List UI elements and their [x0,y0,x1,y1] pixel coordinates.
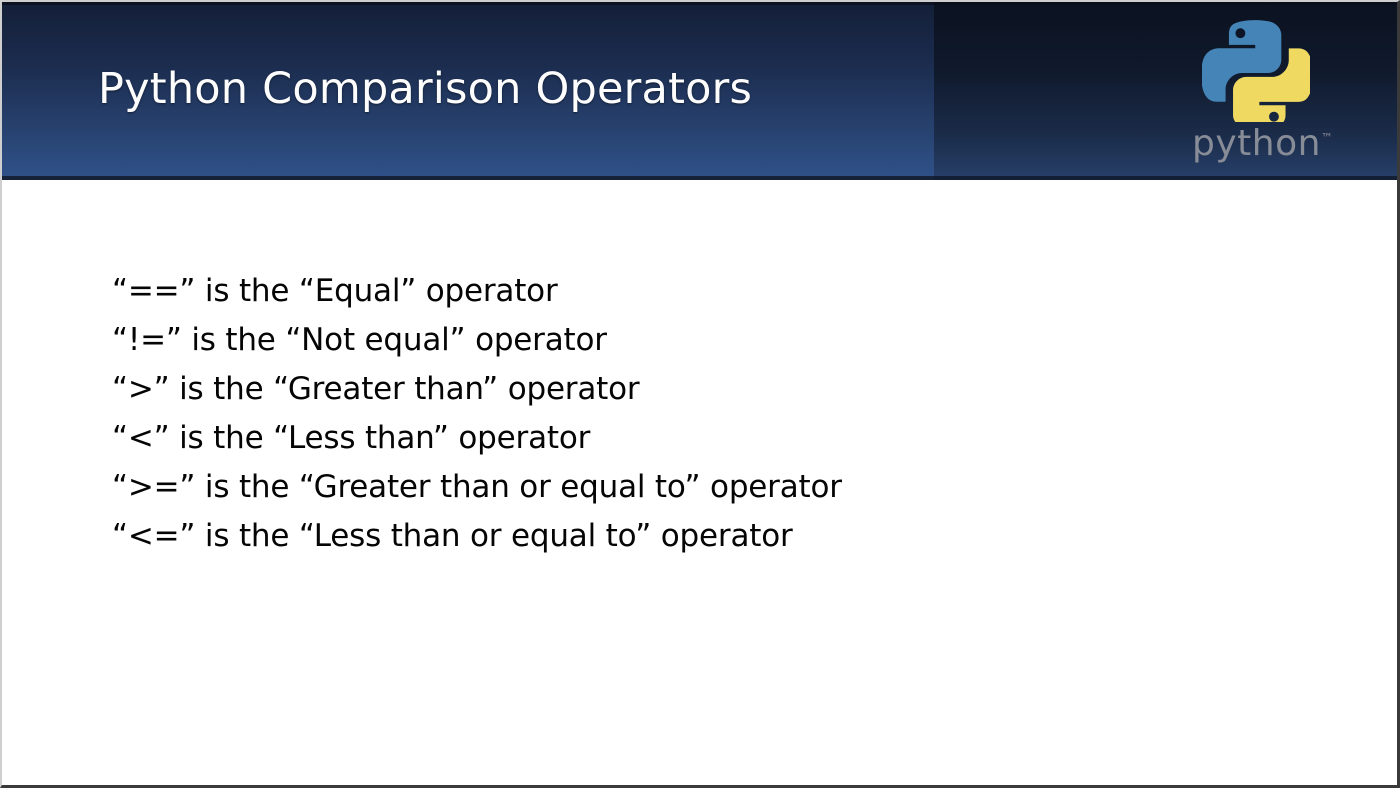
python-wordmark-text: python [1192,123,1321,164]
list-item-equal: “==” is the “Equal” operator [112,267,842,316]
python-logo: python™ [1187,18,1337,166]
list-item-less-than: “<” is the “Less than” operator [112,414,842,463]
list-item-greater-than: “>” is the “Greater than” operator [112,365,842,414]
python-snake-icon [1202,18,1310,122]
list-item-not-equal: “!=” is the “Not equal” operator [112,316,842,365]
slide-header: Python Comparison Operators python™ [2,2,1397,180]
python-wordmark: python™ [1192,118,1337,162]
page-title: Python Comparison Operators [98,64,752,114]
list-item-less-than-or-equal: “<=” is the “Less than or equal to” oper… [112,512,842,561]
operator-list: “==” is the “Equal” operator “!=” is the… [112,267,842,561]
slide-body: “==” is the “Equal” operator “!=” is the… [2,180,1397,787]
list-item-greater-than-or-equal: “>=” is the “Greater than or equal to” o… [112,463,842,512]
header-top-border [2,2,1397,5]
trademark-symbol: ™ [1321,131,1334,145]
presentation-slide: Python Comparison Operators python™ “==”… [0,0,1400,788]
